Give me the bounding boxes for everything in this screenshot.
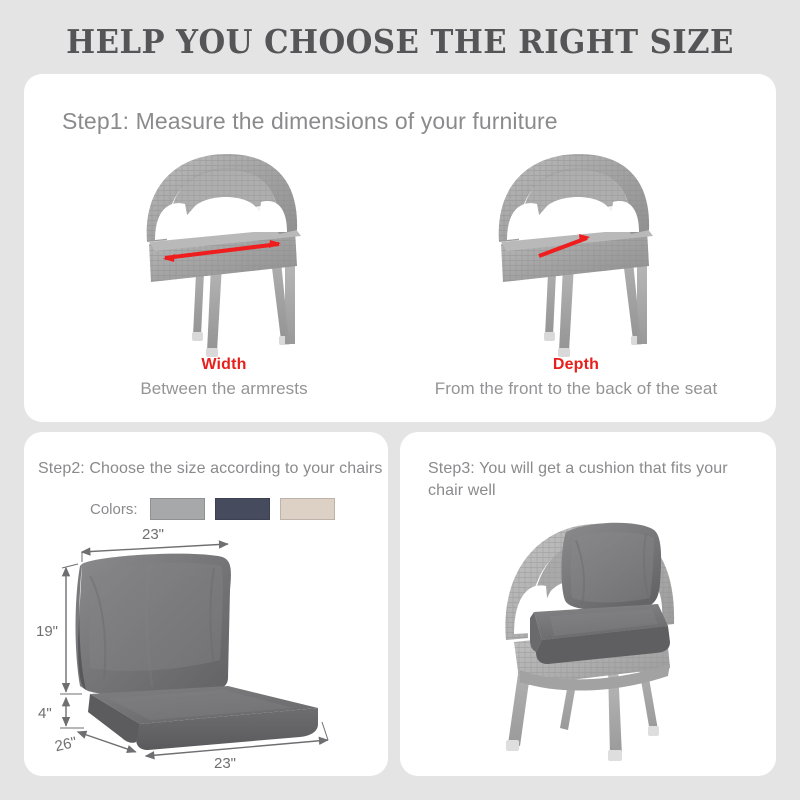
dim-back-height: 19" — [36, 564, 82, 694]
step1-width-caption: Width Between the armrests — [44, 356, 404, 399]
wicker-chair-with-cushion-icon — [462, 500, 714, 768]
width-term: Width — [44, 356, 404, 374]
dim-label-4: 4" — [38, 705, 52, 722]
depth-term: Depth — [396, 356, 756, 374]
step2-panel: Step2: Choose the size according to your… — [24, 432, 388, 776]
step1-depth-column: Depth From the front to the back of the … — [396, 148, 756, 400]
width-description: Between the armrests — [44, 379, 404, 399]
dim-seat-thickness: 4" — [38, 698, 84, 728]
depth-description: From the front to the back of the seat — [396, 379, 756, 399]
dim-label-23-top: 23" — [142, 528, 164, 543]
wicker-chair-front-icon — [119, 148, 329, 360]
colors-label: Colors: — [90, 501, 138, 518]
step3-heading: Step3: You will get a cushion that fits … — [428, 458, 728, 501]
colors-row: Colors: — [90, 498, 335, 520]
wicker-chair-front-icon — [471, 148, 681, 360]
dim-label-23-bottom: 23" — [214, 755, 236, 768]
color-swatch-beige[interactable] — [280, 498, 335, 520]
step1-width-column: Width Between the armrests — [44, 148, 404, 400]
step1-panel: Step1: Measure the dimensions of your fu… — [24, 74, 776, 422]
step3-panel: Step3: You will get a cushion that fits … — [400, 432, 776, 776]
step2-heading: Step2: Choose the size according to your… — [38, 458, 382, 480]
page-title: HELP YOU CHOOSE THE RIGHT SIZE — [28, 22, 772, 61]
step1-depth-caption: Depth From the front to the back of the … — [396, 356, 756, 399]
dim-label-26: 26" — [53, 734, 78, 756]
color-swatch-gray[interactable] — [150, 498, 205, 520]
step1-heading: Step1: Measure the dimensions of your fu… — [62, 106, 558, 137]
deep-seat-cushion-set-icon: 23" 19" 4" 26" — [32, 528, 380, 768]
dim-label-19: 19" — [36, 623, 58, 640]
color-swatch-navy[interactable] — [215, 498, 270, 520]
